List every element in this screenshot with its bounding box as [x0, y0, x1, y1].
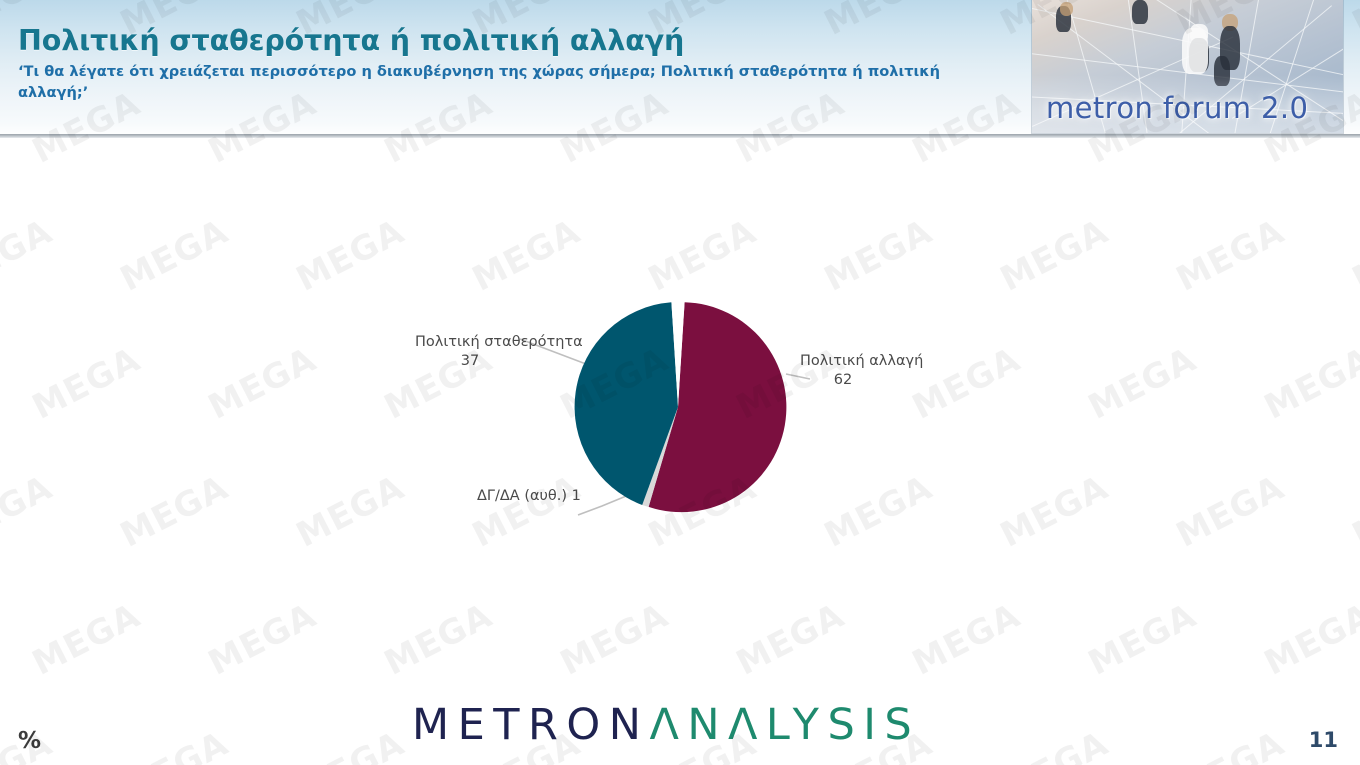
metron-analysis-logo: METRONΛNΛLYSIS: [412, 700, 920, 750]
watermark-text: MEGA: [1346, 724, 1360, 765]
watermark-text: MEGA: [114, 724, 235, 765]
person-silhouette: [1132, 0, 1148, 24]
metron-forum-logo-text: metron forum 2.0: [1046, 91, 1308, 125]
watermark-text: MEGA: [994, 724, 1115, 765]
percent-unit-label: %: [18, 728, 41, 754]
person-silhouette-light: [1182, 28, 1208, 74]
chart-area: Πολιτική σταθερότητα 37 Πολιτική αλλαγή …: [0, 137, 1360, 697]
header-photo: metron forum 2.0: [1032, 0, 1343, 133]
pie-label-name-1: Πολιτική σταθερότητα: [415, 334, 583, 350]
slide-canvas: Πολιτική σταθερότητα ή πολιτική αλλαγή ‘…: [0, 0, 1360, 765]
pie-label-value-1: 37: [415, 352, 525, 371]
person-silhouette: [1214, 56, 1230, 86]
pie-label-value-2: 62: [800, 371, 886, 390]
pie-label-politiki-allagi: Πολιτική αλλαγή 62: [800, 352, 886, 391]
pie-label-dg-da: ΔΓ/ΔΑ (αυθ.) 1: [477, 487, 581, 506]
pie-label-politiki-statherotita: Πολιτική σταθερότητα 37: [415, 333, 525, 372]
pie-label-name-2: Πολιτική αλλαγή: [800, 353, 923, 369]
watermark-text: MEGA: [290, 724, 411, 765]
page-number: 11: [1309, 728, 1338, 752]
logo-metron: METRON: [412, 700, 649, 750]
person-head: [1060, 2, 1073, 16]
page-title: Πολιτική σταθερότητα ή πολιτική αλλαγή: [18, 26, 1018, 57]
watermark-text: MEGA: [1170, 724, 1291, 765]
header-text-block: Πολιτική σταθερότητα ή πολιτική αλλαγή ‘…: [18, 26, 1018, 104]
logo-analysis: ΛNΛLYSIS: [649, 700, 920, 750]
page-subtitle: ‘Τι θα λέγατε ότι χρειάζεται περισσότερο…: [18, 61, 993, 104]
